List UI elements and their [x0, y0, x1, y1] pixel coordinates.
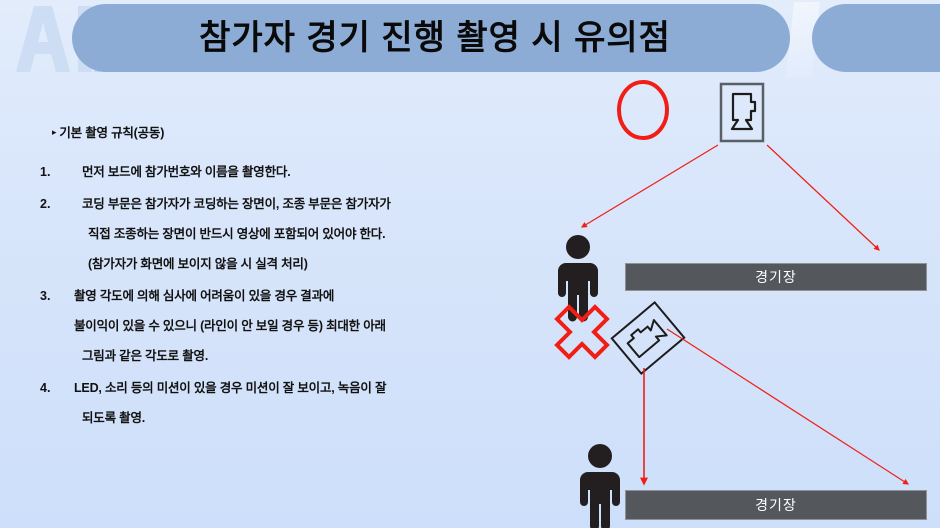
list-item: 3. 촬영 각도에 의해 심사에 어려움이 있을 경우 결과에 불이익이 있을 … [40, 281, 510, 371]
list-item-number: 3. [40, 281, 74, 371]
slide-canvas: 참가자 경기 진행 촬영 시 유의점 ▸기본 촬영 규칙(공동) 1. 먼저 보… [0, 0, 940, 528]
camera-glyph-icon [625, 318, 667, 358]
angle-arrow-left-good [582, 145, 718, 227]
list-item-line: 그림과 같은 각도로 촬영. [74, 341, 510, 371]
angle-arrow-right-bad [667, 329, 908, 484]
list-item-line: 되도록 촬영. [74, 403, 510, 433]
list-item-body: 촬영 각도에 의해 심사에 어려움이 있을 경우 결과에 불이익이 있을 수 있… [74, 281, 510, 371]
list-item-number: 1. [40, 157, 74, 187]
list-item-number: 4. [40, 373, 74, 433]
person-pictogram-bad [580, 444, 620, 528]
list-item-line: 먼저 보드에 참가번호와 이름을 촬영한다. [74, 157, 510, 187]
list-item-body: LED, 소리 등의 미션이 있을 경우 미션이 잘 보이고, 녹음이 잘 되도… [74, 373, 510, 433]
section-heading: ▸기본 촬영 규칙(공동) [52, 122, 510, 141]
list-item-line: 불이익이 있을 수 있으니 (라인이 안 보일 경우 등) 최대한 아래 [74, 311, 510, 341]
angle-arrow-right-good [767, 145, 879, 250]
title-band-secondary [812, 4, 940, 72]
list-item: 2. 코딩 부문은 참가자가 코딩하는 장면이, 조종 부문은 참가자가 직접 … [40, 189, 510, 279]
list-item-line: 촬영 각도에 의해 심사에 어려움이 있을 경우 결과에 [74, 281, 510, 311]
camera-angle-diagram [510, 72, 940, 528]
page-title: 참가자 경기 진행 촬영 시 유의점 [95, 8, 775, 68]
camera-portrait-frame [721, 84, 763, 141]
list-item-number: 2. [40, 189, 74, 279]
circle-ok-mark [619, 82, 667, 138]
list-item: 4. LED, 소리 등의 미션이 있을 경우 미션이 잘 보이고, 녹음이 잘… [40, 373, 510, 433]
stadium-bar-good: 경기장 [625, 263, 927, 291]
list-item: 1. 먼저 보드에 참가번호와 이름을 촬영한다. [40, 157, 510, 187]
stadium-bar-bad: 경기장 [625, 490, 927, 520]
list-item-body: 먼저 보드에 참가번호와 이름을 촬영한다. [74, 157, 510, 187]
list-item-line: LED, 소리 등의 미션이 있을 경우 미션이 잘 보이고, 녹음이 잘 [74, 373, 510, 403]
list-item-line: (참가자가 화면에 보이지 않을 시 실격 처리) [74, 249, 510, 279]
triangle-bullet-icon: ▸ [52, 127, 56, 138]
camera-glyph-icon [732, 94, 755, 129]
list-item-line: 코딩 부문은 참가자가 코딩하는 장면이, 조종 부문은 참가자가 [74, 189, 510, 219]
list-item-body: 코딩 부문은 참가자가 코딩하는 장면이, 조종 부문은 참가자가 직접 조종하… [74, 189, 510, 279]
camera-tilted-frame [612, 302, 684, 373]
list-item-line: 직접 조종하는 장면이 반드시 영상에 포함되어 있어야 한다. [74, 219, 510, 249]
body-text-block: ▸기본 촬영 규칙(공동) 1. 먼저 보드에 참가번호와 이름을 촬영한다. … [40, 122, 510, 435]
section-heading-label: 기본 촬영 규칙(공동) [59, 126, 164, 140]
